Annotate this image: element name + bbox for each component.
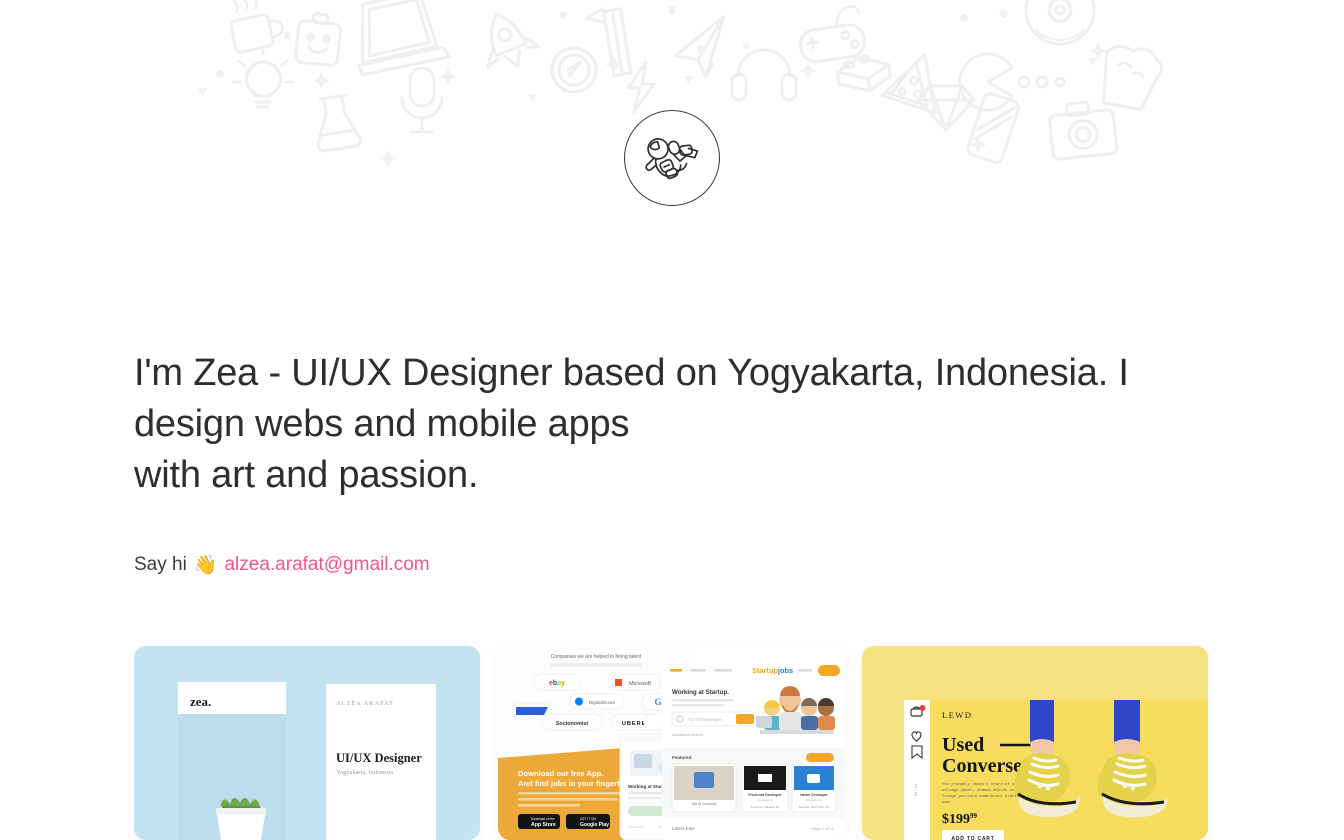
headline-line-2: design webs and mobile apps	[134, 399, 1144, 450]
svg-text:Front-end Developer: Front-end Developer	[748, 793, 782, 797]
svg-text:Microsoft: Microsoft	[629, 681, 651, 687]
svg-text:selvage pabst, shaman mlkshk l: selvage pabst, shaman mlkshk lo-fi	[942, 788, 1022, 793]
contact-prefix: Say hi	[134, 554, 187, 576]
project-card-zea-branding[interactable]: zea. ALZEA ARAFAT UI/UX Designer Yogyaka…	[134, 646, 480, 840]
svg-text:ebay: ebay	[549, 680, 565, 687]
headline-line-3: with art and passion.	[134, 450, 1144, 501]
svg-text:forage portland mumblecore cra: forage portland mumblecore craft	[942, 794, 1017, 799]
coffee-mug-icon	[226, 0, 286, 53]
hero-section: I'm Zea - UI/UX Designer based on Yogyak…	[134, 348, 1144, 576]
svg-text:Try iOS Developer: Try iOS Developer	[688, 717, 723, 722]
popcorn-icon	[1098, 43, 1165, 112]
email-link[interactable]: alzea.arafat@gmail.com	[224, 554, 429, 576]
hiring-tagline: Companies we are helped in hiring talent	[551, 654, 642, 660]
compass-icon	[552, 48, 596, 92]
gamepad-icon	[796, 5, 866, 63]
startupjobs-logo: Startupjobs	[752, 666, 793, 675]
plant-illustration	[216, 798, 266, 840]
pencil-icon	[569, 0, 658, 83]
headline-line-1: I'm Zea - UI/UX Designer based on Yogyak…	[134, 352, 1129, 394]
svg-text:Native Developer: Native Developer	[800, 793, 828, 797]
lightbulb-icon	[233, 46, 293, 107]
featured-label: Featured	[672, 755, 692, 760]
svg-text:You probably haven't heard of: You probably haven't heard of them	[942, 782, 1022, 787]
svg-text:GET IT ON: GET IT ON	[580, 817, 597, 821]
svg-text:Dropbox Inc: Dropbox Inc	[806, 798, 823, 802]
cd-disc-icon	[1026, 0, 1094, 44]
add-to-cart-label: ADD TO CART	[951, 836, 994, 840]
svg-text:Advanced search: Advanced search	[672, 732, 703, 737]
svg-text:App Store: App Store	[531, 822, 556, 828]
laptop-icon	[350, 0, 450, 75]
astronaut-icon	[641, 127, 703, 189]
svg-text:Life at Company: Life at Company	[692, 802, 717, 806]
waving-hand-icon: 👋	[194, 556, 218, 575]
product-title-2: Converse.	[942, 755, 1027, 777]
product-title-1: Used	[942, 734, 984, 756]
svg-text:Full-time, Jakarta, ID: Full-time, Jakarta, ID	[751, 805, 780, 809]
pagination-label: Page 1 of 12	[811, 826, 834, 831]
page-title: I'm Zea - UI/UX Designer based on Yogyak…	[134, 348, 1144, 501]
portfolio-page: I'm Zea - UI/UX Designer based on Yogyak…	[0, 0, 1344, 840]
svg-text:DigitalOcean: DigitalOcean	[589, 700, 616, 705]
svg-text:Download on the: Download on the	[531, 817, 555, 821]
pager-label: 01 / 14	[913, 783, 918, 796]
headphones-icon	[732, 50, 796, 100]
lightning-bolt-icon	[628, 62, 654, 112]
zea-brand-mark: zea.	[190, 694, 211, 709]
jobs-hero-heading: Working at Startup.	[672, 689, 729, 696]
contact-line: Say hi 👋 alzea.arafat@gmail.com	[134, 554, 1144, 576]
project-card-lewd-ecommerce[interactable]: 01 / 14 LEWD Used Converse. You probably…	[862, 646, 1208, 840]
business-card-role: UI/UX Designer	[336, 751, 422, 765]
paper-plane-icon	[672, 17, 730, 80]
latest-jobs-label: Latest Jobs	[672, 826, 695, 831]
business-card-location: Yogyakarta, Indonesia	[336, 769, 393, 776]
rocket-icon	[471, 4, 544, 77]
cart-badge	[920, 705, 926, 711]
business-card-name: ALZEA ARAFAT	[336, 700, 394, 707]
pizza-icon	[882, 46, 951, 113]
logo-circle	[624, 110, 720, 206]
svg-text:Company A: Company A	[757, 798, 773, 802]
svg-text:Remote, New York, NY: Remote, New York, NY	[799, 805, 830, 809]
project-card-list: zea. ALZEA ARAFAT UI/UX Designer Yogyaka…	[134, 646, 1208, 840]
pacman-icon	[960, 54, 1064, 110]
svg-text:Google Play: Google Play	[580, 822, 609, 828]
svg-text:beer.: beer.	[942, 800, 954, 805]
svg-text:Socionomist: Socionomist	[556, 721, 589, 727]
lego-head-icon	[295, 12, 342, 66]
app-heading-1: Download our free App.	[518, 769, 603, 778]
lego-brick-icon	[836, 54, 891, 94]
project-card-startupjobs[interactable]: Companies we are helped in hiring talent…	[498, 646, 844, 840]
startupjobs-browser: Startupjobs Working at Startup. Try iOS …	[662, 660, 844, 840]
site-logo[interactable]	[0, 110, 1344, 206]
app-heading-2: And find jobs in your fingertips!	[518, 779, 633, 788]
lewd-brand: LEWD	[942, 710, 972, 720]
